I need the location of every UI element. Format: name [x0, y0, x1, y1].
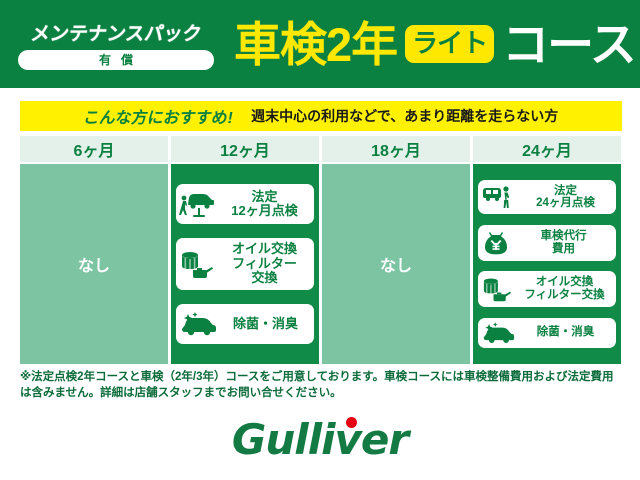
column-header-6-months: 6ヶ月	[20, 136, 168, 162]
course-light-badge: ライト	[405, 25, 494, 63]
logo-wordmark: Gulliver	[232, 415, 408, 464]
course-main-text: 車検2年	[234, 21, 397, 68]
service-item-label: オイル交換 フィルター交換	[516, 276, 613, 302]
column-body-6-months: なし	[20, 164, 168, 364]
gulliver-logo-text: Gulliver	[232, 415, 408, 464]
brand-logo: Gulliver	[0, 410, 640, 468]
recommendation-label: こんな方におすすめ!	[82, 104, 236, 128]
column-6-months: 6ヶ月 なし	[20, 136, 168, 364]
logo-red-dot-icon	[346, 417, 357, 428]
column-body-18-months: なし	[322, 164, 470, 364]
column-body-24-months: 法定 24ヶ月点検	[473, 164, 621, 364]
car-lift-inspection-icon	[179, 189, 215, 219]
column-header-18-months: 18ヶ月	[322, 136, 470, 162]
none-label-6-months: なし	[78, 252, 110, 276]
service-item: 車検代行 費用	[478, 225, 616, 261]
column-24-months: 24ヶ月	[473, 136, 621, 364]
service-item-label: 車検代行 費用	[514, 230, 613, 256]
recommendation-banner: こんな方におすすめ! 週末中心の利用などで、あまり距離を走らない方	[20, 101, 622, 131]
car-sanitize-icon	[481, 322, 515, 344]
service-item-label: 除菌・消臭	[220, 317, 311, 332]
service-item-label: 除菌・消臭	[518, 326, 613, 339]
column-header-12-months: 12ヶ月	[171, 136, 319, 162]
service-item: 除菌・消臭	[176, 304, 314, 344]
service-item: 法定 24ヶ月点検	[478, 180, 616, 214]
column-header-24-months: 24ヶ月	[473, 136, 621, 162]
column-12-months: 12ヶ月	[171, 136, 319, 364]
oil-filter-change-icon	[179, 248, 215, 280]
header-left-group: メンテナンスパック 有償	[0, 0, 232, 88]
maintenance-pack-title: メンテナンスパック	[29, 19, 203, 46]
footnote-text: ※法定点検2年コースと車検（2年/3年）コースをご用意しております。車検コースに…	[20, 369, 624, 402]
paid-badge: 有償	[18, 50, 214, 70]
none-label-18-months: なし	[380, 252, 412, 276]
money-bag-yen-icon	[481, 229, 511, 257]
car-sanitize-icon	[179, 312, 217, 336]
service-schedule-table: 6ヶ月 なし 12ヶ月	[20, 136, 622, 364]
service-item: オイル交換 フィルター 交換	[176, 238, 314, 290]
header-banner: メンテナンスパック 有償 車検2年 ライト コース	[0, 0, 640, 88]
maintenance-pack-poster: メンテナンスパック 有償 車検2年 ライト コース こんな方におすすめ! 週末中…	[0, 0, 640, 480]
service-item: 法定 12ヶ月点検	[176, 184, 314, 224]
course-suffix-text: コース	[502, 21, 635, 68]
service-item-label: 法定 12ヶ月点検	[218, 190, 311, 219]
oil-filter-change-icon	[481, 275, 513, 303]
service-item-label: 法定 24ヶ月点検	[518, 185, 613, 211]
column-18-months: 18ヶ月 なし	[322, 136, 470, 364]
service-item-label: オイル交換 フィルター 交換	[218, 242, 311, 286]
service-item: 除菌・消臭	[478, 318, 616, 348]
recommendation-description: 週末中心の利用などで、あまり距離を走らない方	[251, 106, 558, 126]
header-right-group: 車検2年 ライト コース	[232, 0, 640, 88]
column-body-12-months: 法定 12ヶ月点検	[171, 164, 319, 364]
service-item: オイル交換 フィルター交換	[478, 271, 616, 307]
car-inspection-person-icon	[481, 184, 515, 210]
